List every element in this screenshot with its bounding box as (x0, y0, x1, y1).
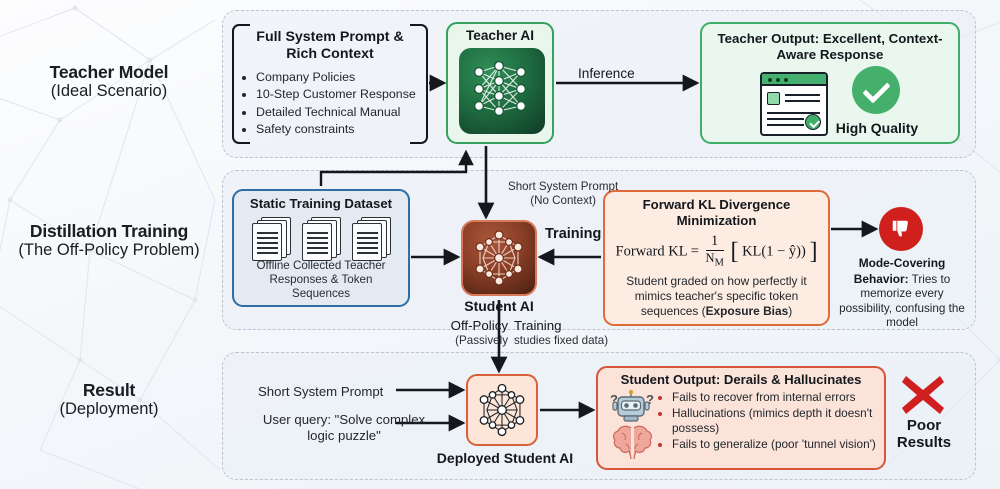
list-item: Safety constraints (256, 121, 418, 139)
student-output-title: Student Output: Derails & Hallucinates (602, 372, 880, 387)
kl-box-caption: Student graded on how perfectly it mimic… (613, 274, 820, 319)
list-item: Company Policies (256, 69, 418, 87)
arrow-label-line2: (No Context) (508, 194, 618, 208)
check-badge-small-icon (805, 114, 821, 130)
student-output-list: Fails to recover from internal errors Ha… (660, 390, 878, 453)
documents-stack-icon (252, 217, 294, 261)
input-label-user-query: User query: "Solve complex logic puzzle" (262, 412, 426, 444)
forward-kl-box: Forward KL Divergence Minimization Forwa… (603, 190, 830, 326)
row-label-line2: (Deployment) (4, 400, 214, 419)
kl-box-title: Forward KL Divergence Minimization (611, 197, 822, 229)
window-titlebar (762, 74, 826, 86)
formula-body: KL(1 − ŷ)) (742, 243, 806, 259)
list-item: 10-Step Customer Response (256, 86, 418, 104)
neural-network-icon (468, 376, 536, 444)
formula-lhs: Forward KL (616, 243, 688, 259)
list-item: Fails to generalize (poor 'tunnel vision… (672, 437, 878, 453)
check-circle-icon (852, 66, 900, 114)
formula-numerator: 1 (706, 234, 724, 251)
arrow-label-line1: Short System Prompt (508, 180, 618, 194)
row-label-line2: (Ideal Scenario) (4, 82, 214, 101)
document-window-icon (760, 72, 828, 136)
formula-fraction: 1 NM (706, 234, 724, 270)
documents-stack-icon (352, 217, 394, 261)
row-label-line2: (The Off-Policy Problem) (4, 241, 214, 260)
neural-network-icon (459, 48, 545, 134)
robot-icon (608, 390, 654, 424)
kl-formula: Forward KL = 1 NM [ KL(1 − ŷ)) ] (605, 234, 828, 270)
brain-icon (610, 424, 654, 460)
row-label-teacher-model: Teacher Model (Ideal Scenario) (4, 62, 214, 101)
student-ai-node (461, 220, 537, 296)
deployed-student-ai-node (466, 374, 538, 446)
diagram-canvas: Teacher Model (Ideal Scenario) Distillat… (0, 0, 1000, 489)
row-label-line1: Result (4, 380, 214, 400)
list-item: Detailed Technical Manual (256, 104, 418, 122)
documents-stack-icon (302, 217, 344, 261)
off-policy-line1: Off-Policy (416, 318, 508, 334)
caption-part-b: ) (788, 304, 792, 318)
formula-bracket-close: ] (809, 238, 817, 264)
list-item: Hallucinations (mimics depth it doesn't … (672, 406, 878, 437)
list-item: Fails to recover from internal errors (672, 390, 878, 406)
arrow-label-short-system-prompt: Short System Prompt (No Context) (508, 180, 618, 208)
static-training-dataset-box: Static Training Dataset Offline Collecte… (232, 189, 410, 307)
formula-equals: = (691, 243, 699, 259)
prompt-box-list: Company Policies 10-Step Customer Respon… (256, 69, 418, 139)
arrow-label-training: Training (545, 226, 601, 242)
teacher-output-title: Teacher Output: Excellent, Context-Aware… (710, 31, 950, 63)
off-policy-line2: (Passively (416, 334, 508, 348)
row-label-line1: Teacher Model (4, 62, 214, 82)
high-quality-label: High Quality (834, 120, 920, 136)
row-label-distillation-training: Distillation Training (The Off-Policy Pr… (4, 221, 214, 260)
mode-covering-caption: Mode-Covering Behavior: Tries to memoriz… (835, 256, 969, 331)
teacher-ai-node: Teacher AI (446, 22, 554, 144)
student-ai-label: Student AI (440, 298, 558, 314)
neural-network-icon (463, 222, 535, 294)
dataset-title: Static Training Dataset (234, 196, 408, 211)
teacher-ai-label: Teacher AI (448, 28, 552, 43)
input-label-short-system-prompt: Short System Prompt (258, 384, 383, 399)
caption-exposure-bias: Exposure Bias (706, 304, 789, 318)
arrow-label-off-policy: Off-Policy (Passively (416, 318, 508, 347)
x-mark-icon (898, 372, 948, 418)
training-fixed-line1: Training (514, 318, 608, 334)
formula-bracket-open: [ (730, 238, 738, 264)
formula-denominator: NM (706, 251, 724, 270)
prompt-box-title: Full System Prompt & Rich Context (242, 29, 418, 63)
dataset-caption: Offline Collected Teacher Responses & To… (240, 259, 402, 301)
full-system-prompt-box: Full System Prompt & Rich Context Compan… (232, 24, 428, 144)
deployed-student-ai-label: Deployed Student AI (430, 450, 580, 466)
row-label-result-deployment: Result (Deployment) (4, 380, 214, 419)
teacher-output-box: Teacher Output: Excellent, Context-Aware… (700, 22, 960, 144)
row-label-line1: Distillation Training (4, 221, 214, 241)
arrow-label-inference: Inference (578, 66, 635, 81)
student-output-box: Student Output: Derails & Hallucinates ?… (596, 366, 886, 470)
poor-results-label: Poor Results (888, 418, 960, 451)
training-fixed-line2: studies fixed data) (514, 334, 608, 348)
thumbs-down-icon (879, 207, 923, 251)
arrow-label-training-fixed: Training studies fixed data) (514, 318, 608, 347)
